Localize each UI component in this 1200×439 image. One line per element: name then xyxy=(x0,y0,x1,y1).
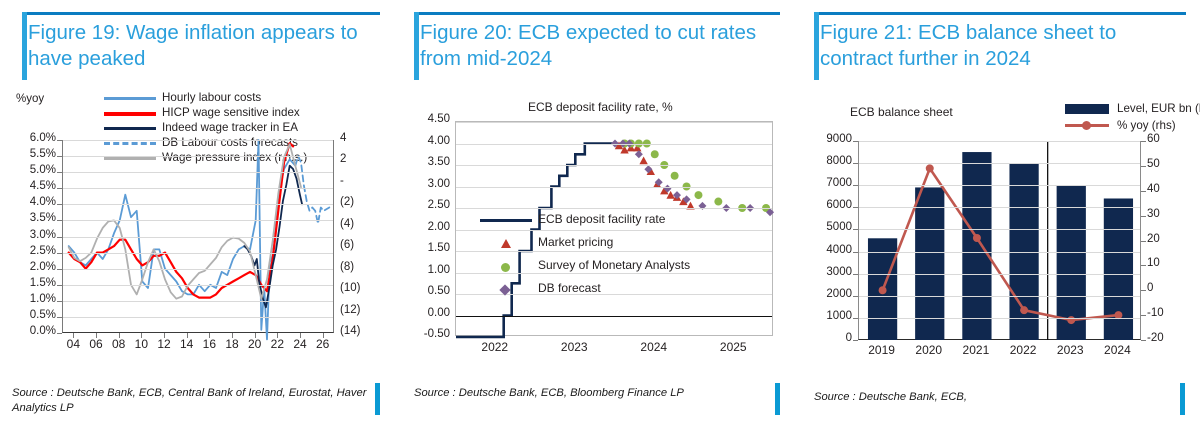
gridline xyxy=(859,296,1140,297)
legend-marker-diamond xyxy=(499,284,510,295)
gridline xyxy=(63,188,333,189)
gridline xyxy=(63,269,333,270)
series-survey-of-monetary-analysts-point xyxy=(714,198,722,206)
axis-tick xyxy=(57,253,62,254)
figure-20-legend: ECB deposit facility rate Market pricing… xyxy=(480,208,690,300)
axis-tick-label: 7000 xyxy=(804,177,852,189)
axis-tick-label: 4000 xyxy=(804,244,852,256)
axis-tick xyxy=(96,333,97,338)
gridline xyxy=(63,317,333,318)
axis-tick xyxy=(141,333,142,338)
axis-tick xyxy=(57,140,62,141)
axis-tick-label: 2023 xyxy=(1045,343,1095,357)
gridline xyxy=(859,141,1140,142)
axis-tick-label: 2 xyxy=(340,153,390,165)
axis-tick xyxy=(323,333,324,338)
axis-tick-label: (12) xyxy=(340,304,390,316)
axis-tick-label: -20 xyxy=(1147,332,1187,344)
gridline xyxy=(63,285,333,286)
axis-tick-label: 6000 xyxy=(804,199,852,211)
axis-tick-label: (2) xyxy=(340,196,390,208)
gridline xyxy=(859,252,1140,253)
axis-tick xyxy=(853,318,858,319)
figure-20-source: Source : Deutsche Bank, ECB, Bloomberg F… xyxy=(414,386,774,401)
axis-tick-label: 2024 xyxy=(1092,343,1142,357)
axis-tick-label: 2.50 xyxy=(402,199,450,211)
axis-tick-label: 2.00 xyxy=(402,221,450,233)
legend-item: ECB deposit facility rate xyxy=(480,208,690,231)
axis-tick-label: (4) xyxy=(340,218,390,230)
axis-tick-label: (10) xyxy=(340,282,390,294)
axis-tick-label: 1.5% xyxy=(6,277,56,289)
gridline xyxy=(63,253,333,254)
axis-tick-label: 4.5% xyxy=(6,180,56,192)
legend-label: Market pricing xyxy=(538,235,613,249)
axis-tick-label: - xyxy=(340,175,390,187)
legend-label: Survey of Monetary Analysts xyxy=(538,258,690,272)
axis-tick xyxy=(1141,216,1146,217)
axis-tick xyxy=(57,220,62,221)
axis-tick-label: 5.5% xyxy=(6,148,56,160)
axis-tick-label: 2.5% xyxy=(6,245,56,257)
panel-bottom-accent xyxy=(775,383,780,415)
axis-tick-label: 5000 xyxy=(804,221,852,233)
figure-21-plot-area xyxy=(858,141,1141,340)
axis-tick-label: 10 xyxy=(1147,257,1187,269)
axis-tick xyxy=(57,317,62,318)
axis-tick xyxy=(1141,166,1146,167)
axis-tick-label: 3.50 xyxy=(402,156,450,168)
axis-tick-label: 4.50 xyxy=(402,113,450,125)
legend-swatch-line xyxy=(480,219,532,222)
gridline xyxy=(63,301,333,302)
axis-tick-label: 3.00 xyxy=(402,178,450,190)
figure-19-source: Source : Deutsche Bank, ECB, Central Ban… xyxy=(12,386,372,416)
axis-tick-label: 2021 xyxy=(951,343,1001,357)
axis-tick xyxy=(853,296,858,297)
gridline xyxy=(63,172,333,173)
axis-tick-label: 20 xyxy=(1147,233,1187,245)
axis-tick xyxy=(57,269,62,270)
axis-tick-label: 2022 xyxy=(471,340,519,354)
legend-label: ECB deposit facility rate xyxy=(538,212,665,226)
axis-tick-label: 0.5% xyxy=(6,309,56,321)
gridline xyxy=(63,204,333,205)
figures-board: Figure 19: Wage inflation appears to hav… xyxy=(0,0,1200,439)
axis-tick-label: 4.00 xyxy=(402,135,450,147)
axis-tick-label: 0.0% xyxy=(6,325,56,337)
axis-tick xyxy=(1141,241,1146,242)
series-survey-of-monetary-analysts-point xyxy=(651,150,659,158)
legend-item: Market pricing xyxy=(480,231,690,254)
axis-tick xyxy=(853,274,858,275)
axis-tick-label: 4 xyxy=(340,132,390,144)
axis-tick-label: 1.00 xyxy=(402,264,450,276)
gridline xyxy=(63,156,333,157)
series-hourly-labour-costs xyxy=(69,140,296,339)
panel-bottom-accent xyxy=(375,383,380,415)
axis-tick xyxy=(57,172,62,173)
axis-tick xyxy=(232,333,233,338)
axis-tick-label: 2.0% xyxy=(6,261,56,273)
axis-tick-label: 50 xyxy=(1147,158,1187,170)
axis-tick-label: 0.00 xyxy=(402,307,450,319)
axis-tick xyxy=(1141,265,1146,266)
series-market-pricing-point xyxy=(639,157,647,165)
axis-tick-label: 2020 xyxy=(904,343,954,357)
axis-tick-label: 3000 xyxy=(804,266,852,278)
axis-tick xyxy=(57,285,62,286)
axis-tick xyxy=(57,204,62,205)
axis-tick xyxy=(853,163,858,164)
axis-tick xyxy=(57,188,62,189)
series-yoy-point xyxy=(1020,306,1028,314)
figure-20-chart: -0.500.000.501.001.502.002.503.003.504.0… xyxy=(400,0,800,360)
figure-21-panel: Figure 21: ECB balance sheet to contract… xyxy=(800,0,1200,439)
axis-tick-label: 2000 xyxy=(804,288,852,300)
series-survey-of-monetary-analysts-point xyxy=(671,172,679,180)
series-survey-of-monetary-analysts-point xyxy=(694,191,702,199)
axis-tick-label: 8000 xyxy=(804,155,852,167)
axis-tick-label: 2019 xyxy=(857,343,907,357)
series-yoy-point xyxy=(879,286,887,294)
figure-21-series-svg xyxy=(859,141,1142,340)
legend-marker-circle xyxy=(501,263,510,272)
axis-tick xyxy=(1141,191,1146,192)
axis-tick-label: -0.50 xyxy=(402,328,450,340)
axis-tick xyxy=(1141,141,1146,142)
gridline xyxy=(859,318,1140,319)
axis-tick xyxy=(853,207,858,208)
axis-tick xyxy=(73,333,74,338)
figure-21-source: Source : Deutsche Bank, ECB, xyxy=(814,390,1174,405)
axis-tick xyxy=(853,185,858,186)
series-db-labour-costs-forecasts xyxy=(295,156,329,224)
gridline xyxy=(63,237,333,238)
gridline xyxy=(859,274,1140,275)
axis-tick xyxy=(209,333,210,338)
series-yoy-point xyxy=(973,234,981,242)
legend-item: DB forecast xyxy=(480,277,690,300)
gridline xyxy=(456,187,772,188)
figure-19-panel: Figure 19: Wage inflation appears to hav… xyxy=(0,0,400,439)
gridline xyxy=(456,144,772,145)
series-yoy-point xyxy=(926,164,934,172)
axis-tick xyxy=(853,229,858,230)
axis-tick xyxy=(1141,340,1146,341)
gridline xyxy=(456,122,772,123)
figure-19-plot-area xyxy=(62,140,334,333)
axis-tick xyxy=(187,333,188,338)
axis-tick xyxy=(277,333,278,338)
axis-tick-label: 60 xyxy=(1147,133,1187,145)
figure-21-chart: 0100020003000400050006000700080009000 -2… xyxy=(800,0,1200,360)
axis-tick xyxy=(1141,315,1146,316)
gridline xyxy=(859,207,1140,208)
axis-tick-label: 3.5% xyxy=(6,212,56,224)
axis-tick xyxy=(300,333,301,338)
axis-tick xyxy=(853,141,858,142)
axis-tick xyxy=(1141,290,1146,291)
axis-tick-label: 0 xyxy=(804,332,852,344)
axis-tick-label: 5.0% xyxy=(6,164,56,176)
gridline xyxy=(859,185,1140,186)
axis-tick-label: 40 xyxy=(1147,183,1187,195)
axis-tick-label: 2022 xyxy=(998,343,1048,357)
axis-tick-label: 9000 xyxy=(804,133,852,145)
axis-tick xyxy=(57,301,62,302)
bar-2021 xyxy=(962,152,991,340)
legend-label: DB forecast xyxy=(538,281,601,295)
axis-tick xyxy=(255,333,256,338)
axis-tick xyxy=(57,156,62,157)
series-db-forecast-point xyxy=(635,150,643,158)
axis-tick-label: 1.50 xyxy=(402,242,450,254)
axis-tick-label: 4.0% xyxy=(6,196,56,208)
legend-marker-triangle xyxy=(501,239,511,248)
series-wage-pressure-index-r-h-s- xyxy=(69,144,301,298)
axis-tick-label: (6) xyxy=(340,239,390,251)
axis-tick-label: 1.0% xyxy=(6,293,56,305)
axis-tick-label: 2023 xyxy=(550,340,598,354)
axis-tick-label: 2024 xyxy=(630,340,678,354)
figure-20-panel: Figure 20: ECB expected to cut rates fro… xyxy=(400,0,800,439)
gridline xyxy=(456,316,772,317)
axis-tick-label: 26 xyxy=(309,337,337,351)
legend-item: Survey of Monetary Analysts xyxy=(480,254,690,277)
axis-tick xyxy=(853,340,858,341)
axis-tick xyxy=(853,252,858,253)
gridline xyxy=(859,163,1140,164)
axis-tick-label: 2025 xyxy=(709,340,757,354)
axis-tick xyxy=(119,333,120,338)
panel-bottom-accent xyxy=(1180,383,1185,415)
figure-19-chart: 0.0%0.5%1.0%1.5%2.0%2.5%3.0%3.5%4.0%4.5%… xyxy=(0,0,400,360)
axis-tick xyxy=(164,333,165,338)
axis-tick xyxy=(57,333,62,334)
axis-tick xyxy=(57,237,62,238)
axis-tick-label: (14) xyxy=(340,325,390,337)
axis-tick-label: 0.50 xyxy=(402,285,450,297)
gridline xyxy=(63,220,333,221)
axis-tick-label: (8) xyxy=(340,261,390,273)
gridline xyxy=(456,165,772,166)
gridline xyxy=(859,229,1140,230)
axis-tick-label: -10 xyxy=(1147,307,1187,319)
axis-tick-label: 3.0% xyxy=(6,229,56,241)
axis-tick-label: 1000 xyxy=(804,310,852,322)
gridline xyxy=(63,140,333,141)
axis-tick-label: 6.0% xyxy=(6,132,56,144)
axis-tick-label: 30 xyxy=(1147,208,1187,220)
axis-tick-label: 0 xyxy=(1147,282,1187,294)
